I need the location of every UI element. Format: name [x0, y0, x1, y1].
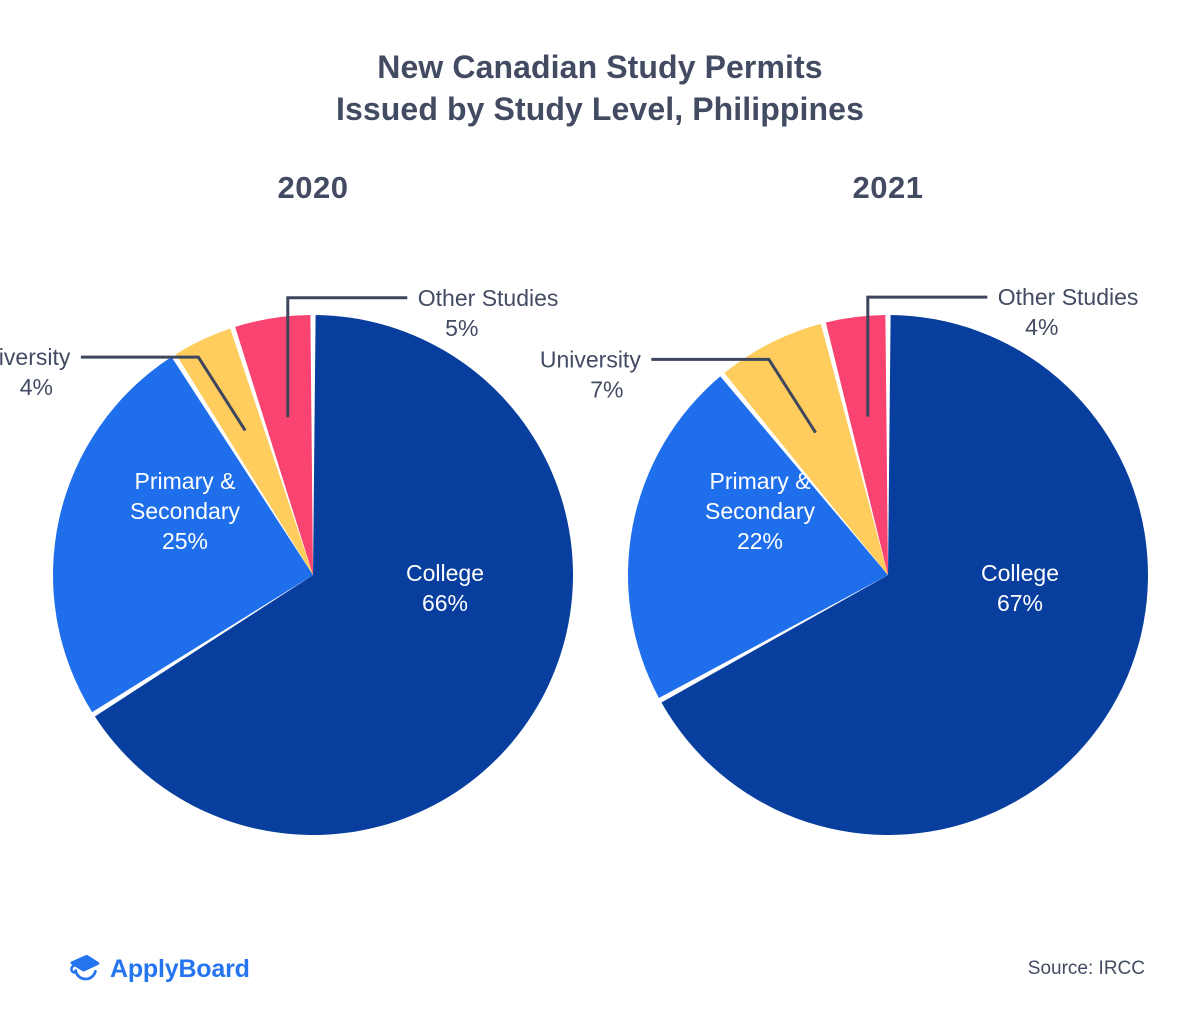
source-note: Source: IRCC — [1028, 958, 1145, 980]
svg-text:Other Studies4%: Other Studies4% — [998, 284, 1139, 340]
footer: ApplyBoard Source: IRCC — [0, 934, 1200, 1024]
brand-name: ApplyBoard — [110, 955, 250, 984]
page-title: New Canadian Study Permits Issued by Stu… — [0, 46, 1200, 130]
pie-chart-2021: College67%Primary &Secondary22%Universit… — [608, 170, 1168, 890]
chart-page: New Canadian Study Permits Issued by Stu… — [0, 0, 1200, 1024]
page-title-line-2: Issued by Study Level, Philippines — [0, 88, 1200, 130]
graduation-cap-icon — [68, 952, 102, 987]
pie-panel-2021: 2021 College67%Primary &Secondary22%Univ… — [608, 170, 1168, 890]
svg-text:University4%: University4% — [0, 344, 71, 400]
page-title-line-1: New Canadian Study Permits — [0, 46, 1200, 88]
pie-chart-2020: College66%Primary &Secondary25%Universit… — [33, 170, 593, 890]
svg-text:Other Studies5%: Other Studies5% — [418, 285, 559, 341]
pie-panel-2020: 2020 College66%Primary &Secondary25%Univ… — [33, 170, 593, 890]
brand-logo: ApplyBoard — [68, 952, 250, 987]
